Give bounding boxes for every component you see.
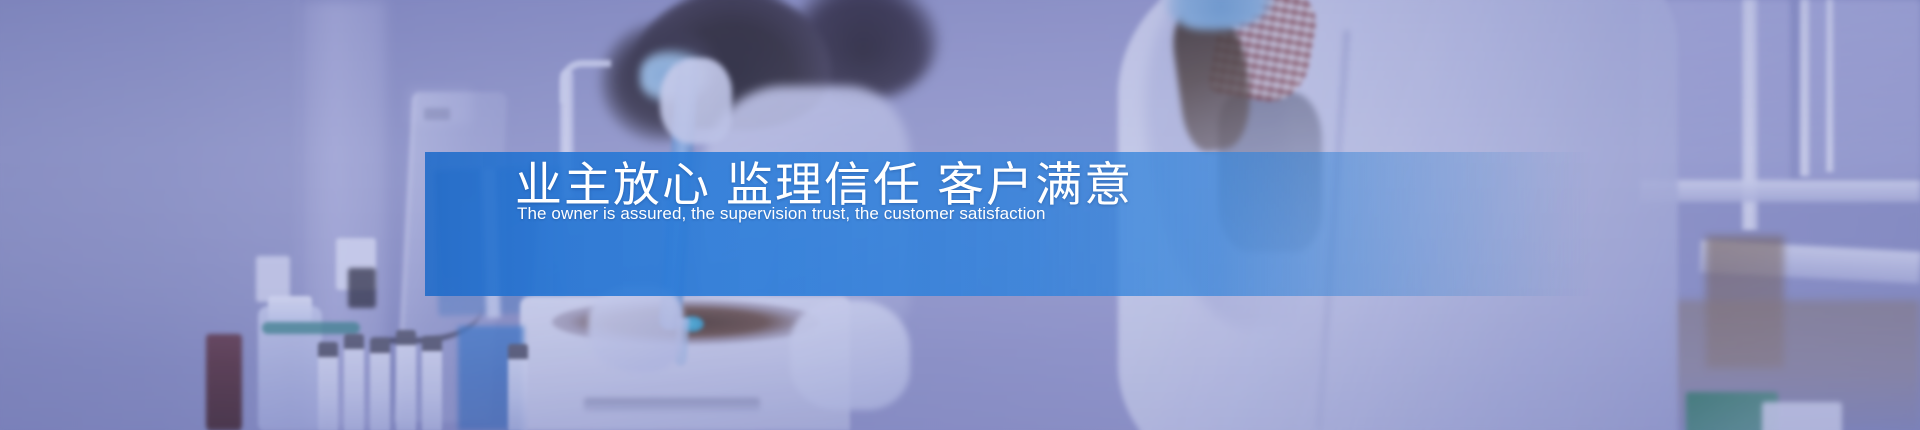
slogan-subline: The owner is assured, the supervision tr… [517, 204, 1046, 224]
slogan-banner: 业主放心 监理信任 客户满意 The owner is assured, the… [425, 152, 1590, 296]
banner-stage: 业主放心 监理信任 客户满意 The owner is assured, the… [0, 0, 1920, 430]
slogan-banner-inner: 业主放心 监理信任 客户满意 The owner is assured, the… [425, 152, 1590, 296]
